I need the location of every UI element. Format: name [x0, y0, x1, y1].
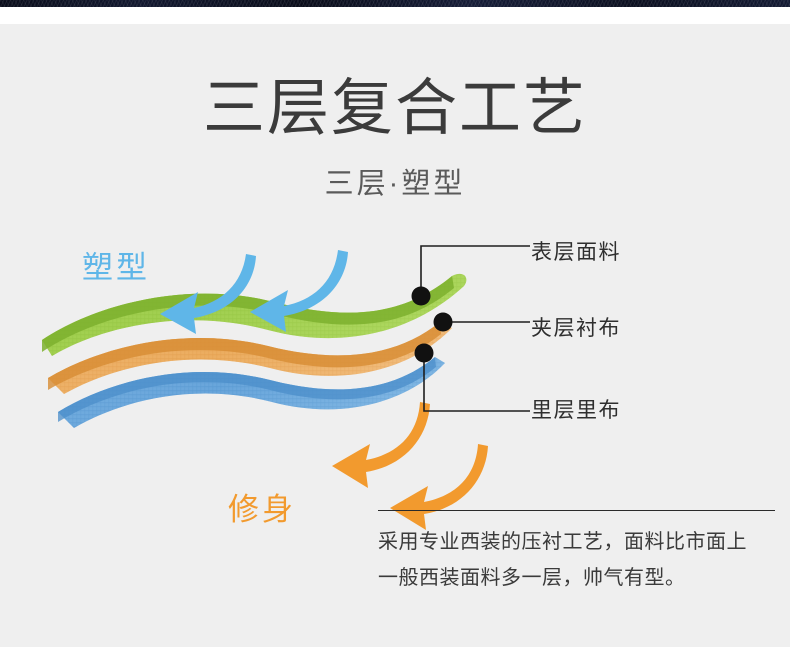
page-title: 三层复合工艺: [0, 74, 790, 144]
callout-label-top: 表层面料: [531, 240, 621, 266]
caption-slimming: 修身: [228, 492, 296, 528]
caption-shaping: 塑型: [82, 250, 150, 286]
product-detail-page: 三层复合工艺 三层·塑型: [0, 0, 790, 647]
white-separator: [0, 7, 790, 24]
callout-dot-top: [412, 287, 431, 306]
description-text: 采用专业西装的压衬工艺，面料比市面上 一般西装面料多一层，帅气有型。: [378, 524, 778, 596]
blue-arrows-group: [150, 248, 350, 358]
callout-dot-inner: [415, 344, 434, 363]
top-denim-strip: [0, 0, 790, 7]
callout-label-inner: 里层里布: [531, 398, 621, 424]
callout-label-middle: 夹层衬布: [531, 316, 621, 342]
page-subtitle: 三层·塑型: [0, 166, 790, 202]
description-line-2: 一般西装面料多一层，帅气有型。: [378, 560, 778, 596]
callout-dot-middle: [434, 313, 453, 332]
description-divider: [378, 510, 775, 511]
description-line-1: 采用专业西装的压衬工艺，面料比市面上: [378, 524, 778, 560]
callout-leader-lines: [400, 228, 540, 428]
